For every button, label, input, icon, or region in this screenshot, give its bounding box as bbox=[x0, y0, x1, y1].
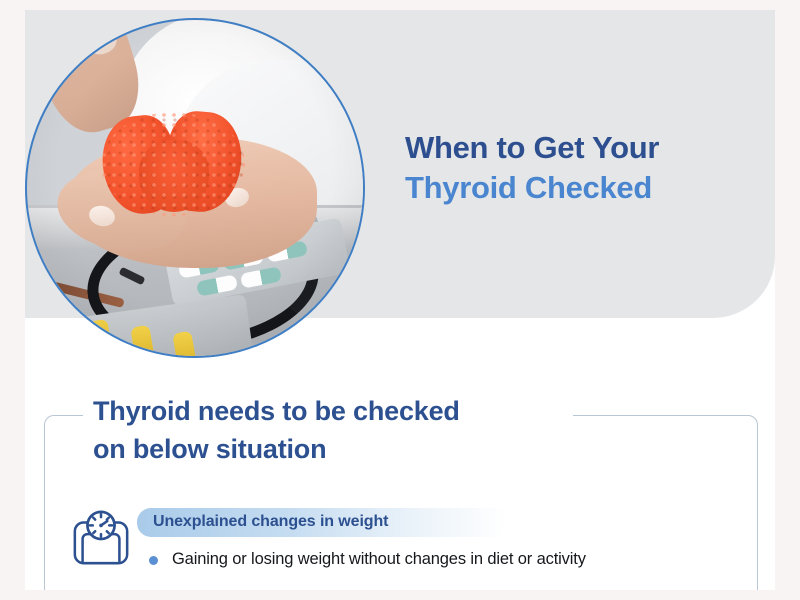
weight-scale-icon bbox=[65, 502, 137, 574]
card-heading-line-1: Thyroid needs to be checked bbox=[93, 396, 460, 426]
hero-photo-image bbox=[27, 20, 363, 356]
infographic-page: When to Get Your Thyroid Checked bbox=[0, 0, 800, 600]
bullet-text: Gaining or losing weight without changes… bbox=[172, 549, 586, 570]
card-heading-line-2: on below situation bbox=[93, 434, 326, 464]
photo-vignette bbox=[27, 20, 363, 356]
situations-card: Thyroid needs to be checked on below sit… bbox=[44, 415, 758, 590]
hero-title-line-2: Thyroid Checked bbox=[405, 168, 745, 208]
page-sheet: When to Get Your Thyroid Checked bbox=[25, 10, 775, 590]
hero-title-block: When to Get Your Thyroid Checked bbox=[405, 128, 745, 207]
bullet-dot-icon bbox=[149, 556, 158, 565]
situation-list: Unexplained changes in weight Gaining or… bbox=[65, 502, 747, 574]
hero-title-line-1: When to Get Your bbox=[405, 128, 745, 168]
hero-photo-circle bbox=[25, 18, 365, 358]
card-heading: Thyroid needs to be checked on below sit… bbox=[83, 392, 573, 469]
list-item-body: Unexplained changes in weight Gaining or… bbox=[137, 502, 747, 570]
list-item: Unexplained changes in weight Gaining or… bbox=[65, 502, 747, 574]
bullet-item: Gaining or losing weight without changes… bbox=[137, 549, 747, 570]
list-item-title: Unexplained changes in weight bbox=[137, 508, 507, 537]
